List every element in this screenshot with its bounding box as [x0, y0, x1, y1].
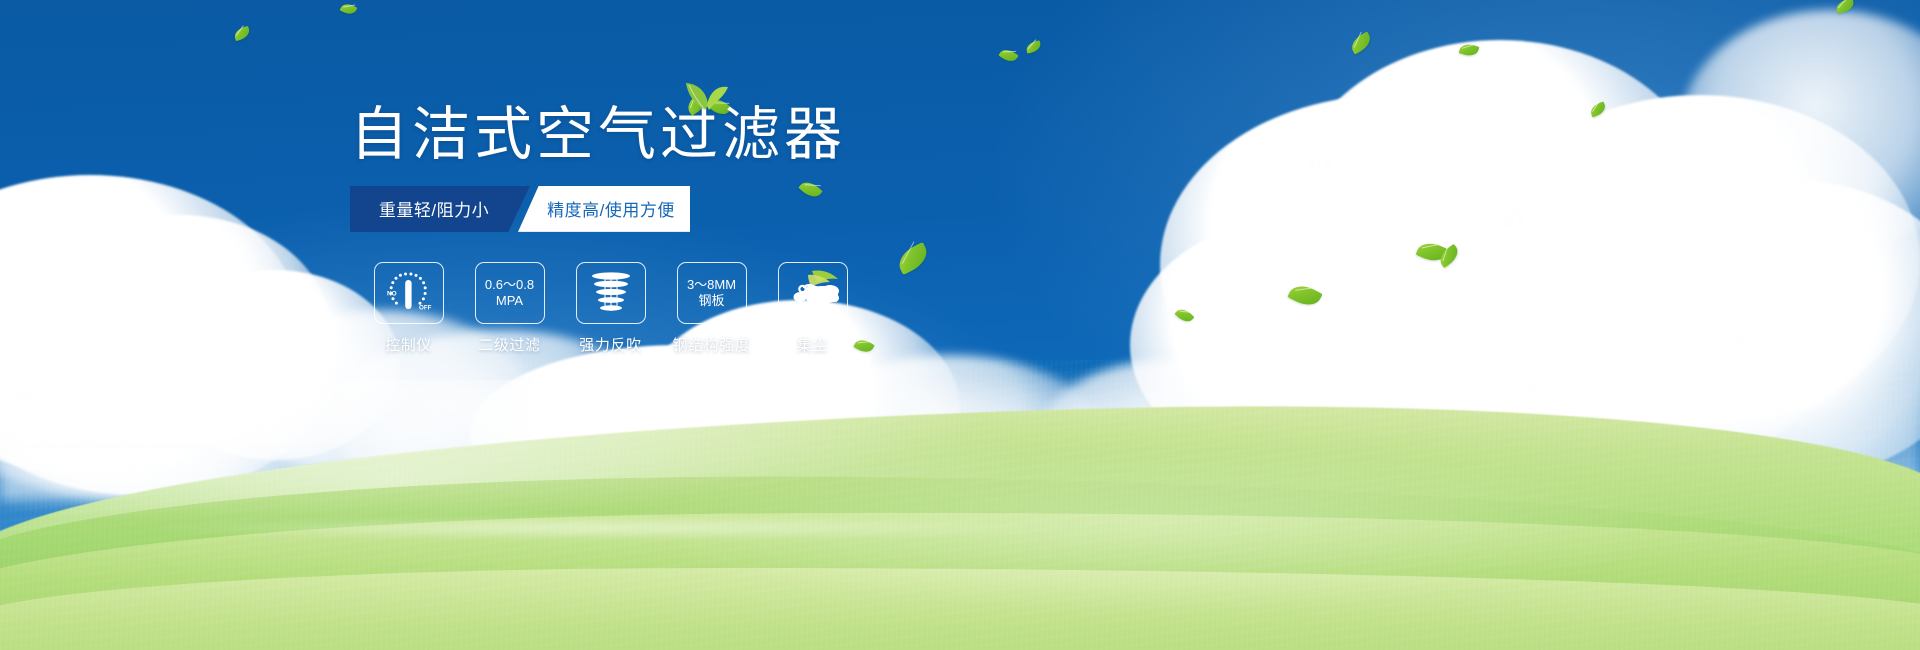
gauge-dial-icon: NO OFF: [381, 269, 437, 317]
feature-box-controller: NO OFF: [374, 262, 444, 324]
feature-label-dust-collection: 集尘: [797, 334, 828, 355]
feature-item-steel-strength: 3～8MM 钢板 钢结构强度: [661, 262, 762, 355]
hero-content: 自洁式空气过滤器 重量轻/阻力小 精度高/使用方便: [350, 105, 910, 355]
title-leaf-icon: [685, 81, 729, 111]
feature-item-backflush: 强力反吹: [560, 262, 661, 355]
grass-texture: [0, 360, 1920, 650]
feature-label-two-stage-filter: 二级过滤: [478, 334, 540, 355]
pressure-unit-text: MPA: [485, 293, 534, 309]
feature-label-steel-strength: 钢结构强度: [672, 334, 750, 355]
grass-path: [150, 518, 1050, 538]
feature-item-dust-collection: Air 集尘: [762, 262, 863, 355]
steel-thickness-text: 3～8MM: [687, 277, 736, 292]
feature-icon-row: NO OFF 控制仪 0.6～0.8 MPA 二级过滤: [358, 262, 910, 355]
tagline-badge-secondary-label: 精度高/使用方便: [547, 196, 675, 221]
page-title-wrapper: 自洁式空气过滤器: [350, 105, 910, 166]
tagline-badge-secondary: 精度高/使用方便: [518, 186, 690, 232]
feature-box-dust-collection: Air: [778, 262, 848, 324]
feature-box-two-stage-filter: 0.6～0.8 MPA: [475, 262, 545, 324]
feature-box-steel-strength: 3～8MM 钢板: [677, 262, 747, 324]
pressure-value-icon: 0.6～0.8 MPA: [485, 277, 534, 309]
feature-item-controller: NO OFF 控制仪: [358, 262, 459, 355]
feature-box-backflush: [576, 262, 646, 324]
pressure-range-text: 0.6～0.8: [485, 277, 534, 292]
svg-text:NO: NO: [387, 290, 397, 297]
filter-cartridge-icon: [586, 270, 636, 316]
page-title: 自洁式空气过滤器: [350, 105, 910, 166]
feature-label-backflush: 强力反吹: [579, 334, 641, 355]
svg-text:OFF: OFF: [419, 304, 432, 311]
feature-label-controller: 控制仪: [385, 334, 432, 355]
tagline-badges: 重量轻/阻力小 精度高/使用方便: [350, 186, 672, 232]
feature-item-two-stage-filter: 0.6～0.8 MPA 二级过滤: [459, 262, 560, 355]
hero-banner: 自洁式空气过滤器 重量轻/阻力小 精度高/使用方便: [0, 0, 1920, 650]
air-cloud-icon: Air: [782, 267, 844, 319]
tagline-badge-primary: 重量轻/阻力小: [350, 186, 530, 232]
steel-material-text: 钢板: [687, 293, 736, 309]
tagline-badge-primary-label: 重量轻/阻力小: [379, 196, 489, 221]
air-caption-text: Air: [806, 308, 819, 319]
steel-plate-icon: 3～8MM 钢板: [687, 277, 736, 309]
